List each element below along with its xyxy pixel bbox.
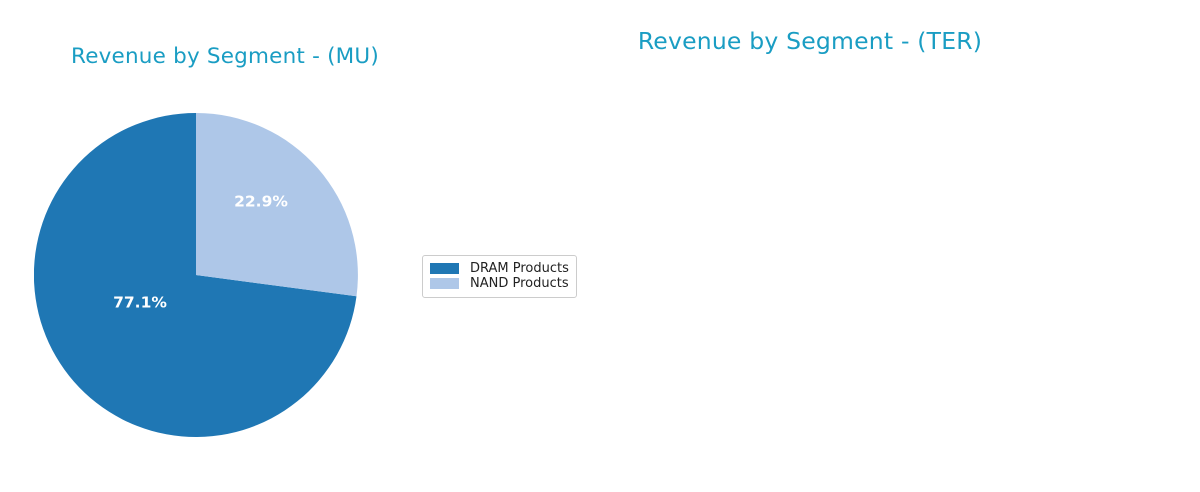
legend-swatch-nand [430, 278, 459, 289]
pie-slice-label-nand: 22.9% [234, 193, 288, 211]
legend-label-nand: NAND Products [470, 277, 569, 290]
pie-panel-mu: Revenue by Segment - (MU) 77.1% 22.9% DR… [0, 0, 600, 492]
pie-slice-label-dram: 77.1% [113, 294, 167, 312]
figure-canvas: Revenue by Segment - (MU) 77.1% 22.9% DR… [0, 0, 1200, 492]
legend-item-dram[interactable]: DRAM Products [430, 261, 569, 276]
legend-swatch-dram [430, 263, 459, 274]
pie-panel-ter: Revenue by Segment - (TER) 81.4% 18.6% P… [600, 0, 1200, 492]
legend-mu[interactable]: DRAM Products NAND Products [422, 255, 577, 298]
chart-title-mu: Revenue by Segment - (MU) [0, 44, 450, 69]
legend-item-nand[interactable]: NAND Products [430, 276, 569, 291]
chart-title-ter: Revenue by Segment - (TER) [600, 27, 1020, 55]
pie-chart-mu: 77.1% 22.9% [34, 113, 358, 437]
legend-label-dram: DRAM Products [470, 262, 569, 275]
